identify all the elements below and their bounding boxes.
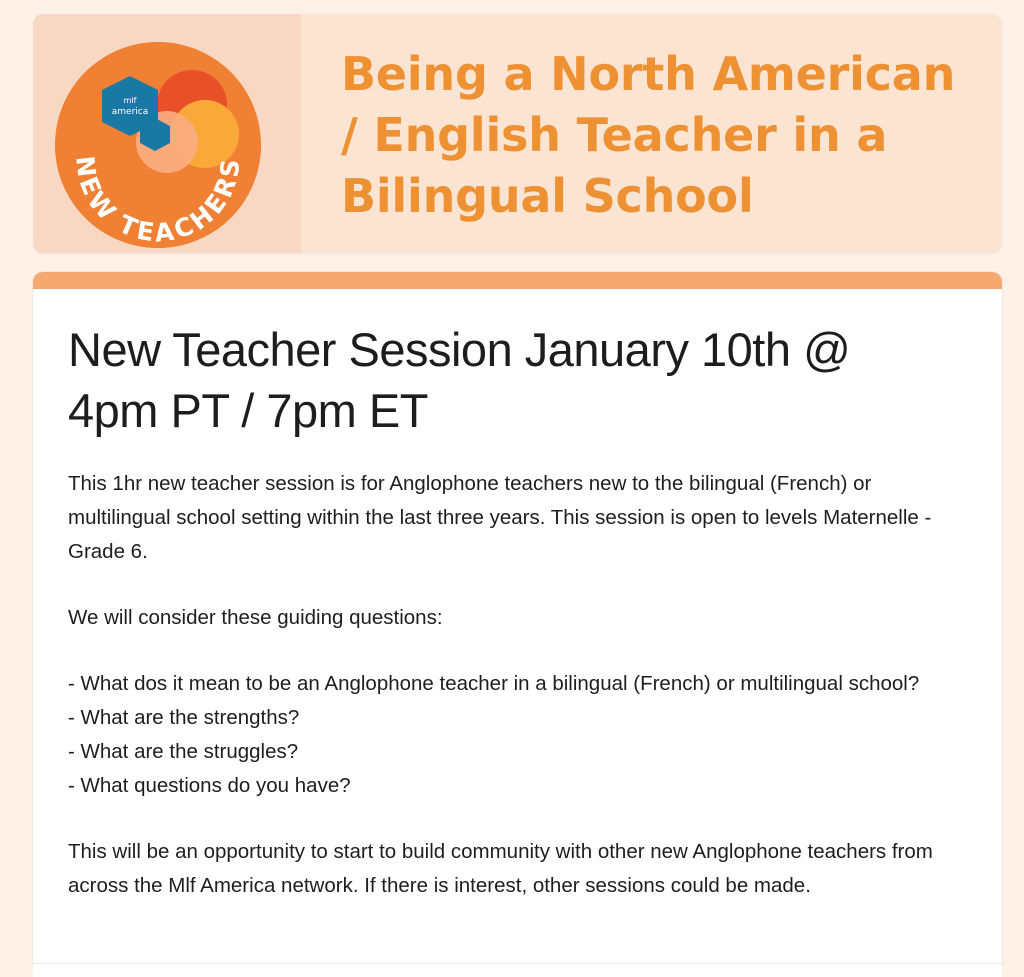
page-root: mlf america NEW TEACHERS Being a North A… [0, 0, 1024, 977]
list-item: - What dos it mean to be an Anglophone t… [68, 667, 968, 701]
new-teachers-logo-badge: mlf america NEW TEACHERS [55, 42, 261, 248]
session-content-card: New Teacher Session January 10th @ 4pm P… [33, 272, 1002, 964]
paragraph-spacer [68, 803, 968, 835]
paragraph-spacer [68, 569, 968, 601]
guiding-questions-list: - What dos it mean to be an Anglophone t… [68, 667, 968, 803]
session-title: New Teacher Session January 10th @ 4pm P… [68, 319, 918, 441]
banner-title: Being a North American / English Teacher… [341, 44, 976, 228]
list-item: - What questions do you have? [68, 769, 968, 803]
card-body: New Teacher Session January 10th @ 4pm P… [33, 289, 1002, 903]
session-description: This 1hr new teacher session is for Angl… [68, 467, 968, 903]
header-title-panel: Being a North American / English Teacher… [301, 14, 1002, 253]
header-logo-panel: mlf america NEW TEACHERS [33, 14, 301, 253]
list-item: - What are the strengths? [68, 701, 968, 735]
logo-hexagon-text-mlf: mlf [124, 96, 137, 105]
intro-paragraph: This 1hr new teacher session is for Angl… [68, 467, 968, 569]
header-banner: mlf america NEW TEACHERS Being a North A… [33, 14, 1002, 253]
list-item: - What are the struggles? [68, 735, 968, 769]
closing-paragraph: This will be an opportunity to start to … [68, 835, 968, 903]
logo-hexagon-text-america: america [112, 107, 148, 117]
paragraph-spacer [68, 635, 968, 667]
card-footer-strip [33, 964, 1002, 977]
guiding-questions-intro: We will consider these guiding questions… [68, 601, 968, 635]
card-accent-bar [33, 272, 1002, 289]
